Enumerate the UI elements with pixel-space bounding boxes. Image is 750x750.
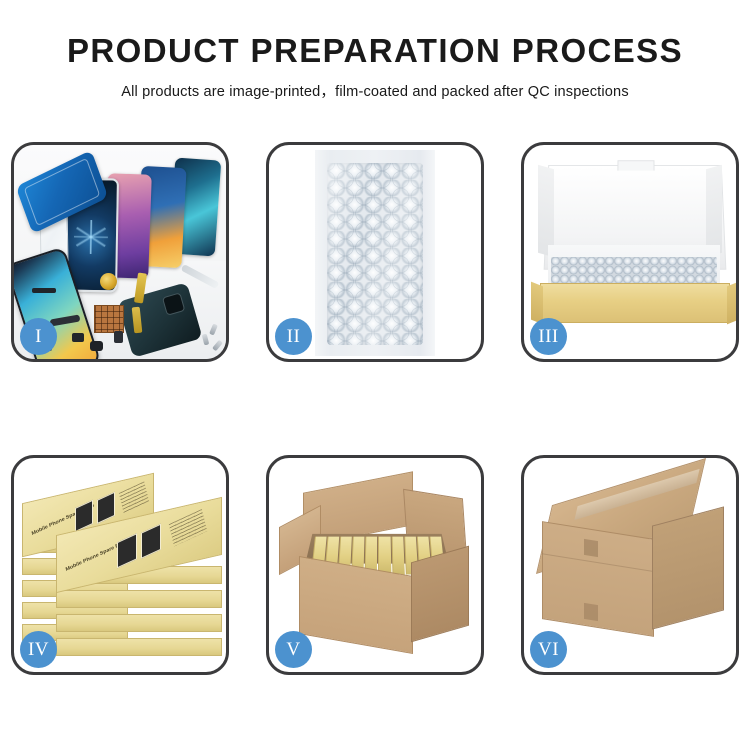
sealed-carton-front-face bbox=[542, 521, 654, 637]
process-step-grid: I II III bbox=[11, 142, 739, 675]
charging-coil-part bbox=[100, 273, 117, 290]
small-component-2 bbox=[114, 331, 123, 343]
step-badge-3: III bbox=[530, 318, 567, 355]
step-badge-2: II bbox=[275, 318, 312, 355]
page-title: PRODUCT PREPARATION PROCESS bbox=[0, 34, 750, 69]
bubble-wrap-pouch bbox=[327, 163, 423, 345]
bubble-wrapped-contents bbox=[551, 257, 717, 285]
step-badge-5: V bbox=[275, 631, 312, 668]
process-step-2: II bbox=[266, 142, 484, 362]
speaker-bar-part bbox=[32, 288, 56, 293]
sealed-carton-right-face bbox=[652, 506, 724, 629]
carton-handle-notch-1 bbox=[584, 539, 598, 557]
small-component-4 bbox=[90, 341, 103, 351]
step-badge-6: VI bbox=[530, 631, 567, 668]
mailer-lid-tab bbox=[617, 160, 654, 170]
process-step-1: I bbox=[11, 142, 229, 362]
packed-box-7 bbox=[391, 537, 404, 575]
mailer-right-wall bbox=[706, 165, 722, 258]
mailer-left-wall bbox=[538, 165, 554, 258]
process-step-6: VI bbox=[521, 455, 739, 675]
step-badge-1: I bbox=[20, 318, 57, 355]
kraft-box-edge-7 bbox=[56, 590, 222, 608]
step-badge-4: IV bbox=[20, 631, 57, 668]
process-step-5: V bbox=[266, 455, 484, 675]
bubble-wrap-highlight bbox=[327, 163, 423, 345]
carton-right-face bbox=[411, 546, 469, 643]
process-step-4: Mobile Phone Spare Parts Mobile Phone Sp… bbox=[11, 455, 229, 675]
small-component-1 bbox=[72, 333, 84, 342]
carton-handle-notch-2 bbox=[584, 603, 598, 621]
mailer-front-panel bbox=[540, 283, 730, 323]
page-subtitle: All products are image-printed，film-coat… bbox=[0, 80, 750, 101]
packed-box-6 bbox=[378, 537, 391, 575]
process-step-3: III bbox=[521, 142, 739, 362]
header: PRODUCT PREPARATION PROCESS All products… bbox=[0, 0, 750, 101]
kraft-box-edge-8 bbox=[56, 614, 222, 632]
kraft-box-edge-9 bbox=[56, 638, 222, 656]
chip-grid-part bbox=[94, 305, 124, 333]
